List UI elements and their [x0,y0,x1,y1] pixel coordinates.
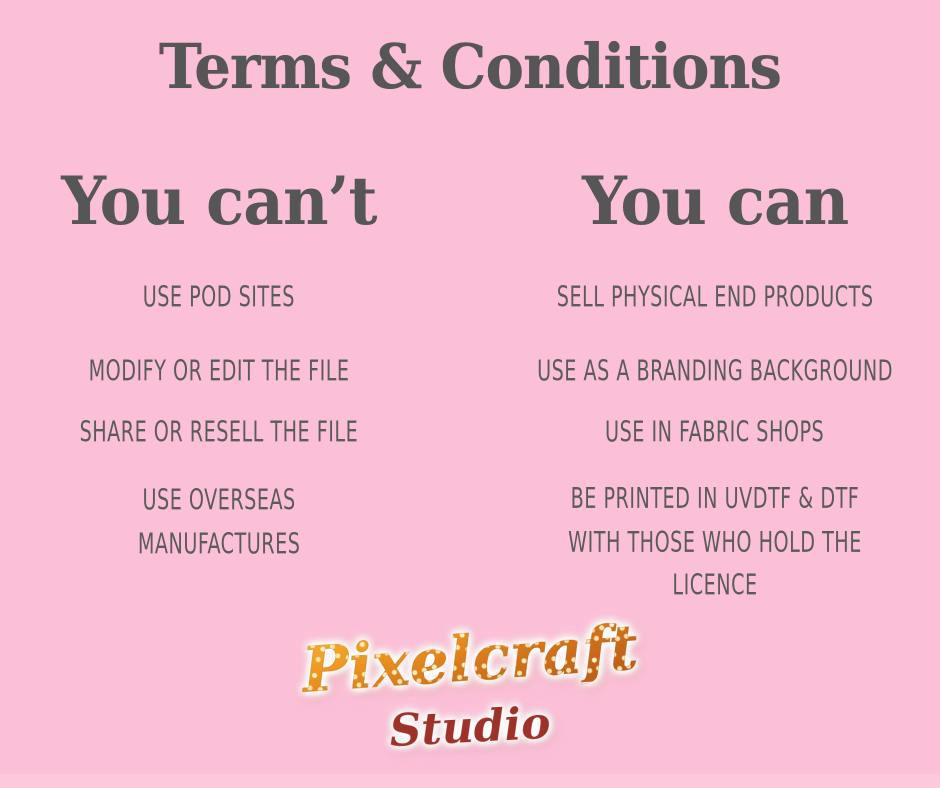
brand-logo-inner: Pixelcraft Studio [270,622,670,782]
you-can-item-list: Sell physical end products Use as a bran… [470,279,940,602]
terms-and-conditions-poster: Terms & Conditions You can’t Use POD Sit… [0,0,940,788]
column-heading-you-can: You can [582,168,848,235]
list-item: Use as a branding background [537,351,893,394]
list-item: Be printed in UVDTF & DTF with those who… [531,478,900,608]
list-item: Sell physical end products [557,277,874,320]
column-heading-you-cant: You can’t [61,168,376,235]
page-title: Terms & Conditions [33,36,907,98]
brand-logo: Pixelcraft Studio [0,622,940,782]
brand-logo-primary-text: Pixelcraft [268,614,671,704]
list-item: Use in fabric shops [605,412,824,455]
brand-logo-secondary-text: Studio [269,696,671,761]
list-item: Share or resell the file [80,412,359,455]
you-cant-item-list: Use POD Sites Modify or edit the file Sh… [0,279,470,563]
list-item: Use overseas manufactures [138,480,301,567]
column-you-cant: You can’t Use POD Sites Modify or edit t… [0,168,470,602]
list-item: Modify or edit the file [89,351,350,394]
terms-columns: You can’t Use POD Sites Modify or edit t… [0,168,940,602]
list-item: Use POD Sites [143,277,295,320]
column-you-can: You can Sell physical end products Use a… [470,168,940,602]
